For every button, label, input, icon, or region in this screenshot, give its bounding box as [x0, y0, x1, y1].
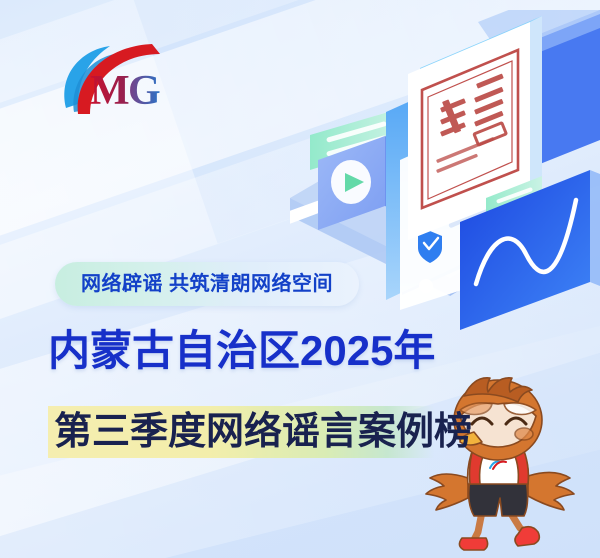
logo-letter-m: M: [90, 68, 130, 114]
mascot-shorts: [469, 480, 528, 516]
logo-letter-g: G: [128, 68, 161, 114]
mascot-shirt-logo: [488, 460, 510, 472]
mascot-wing-right: [528, 472, 574, 510]
page-title-line2-wrapper: 第三季度网络谣言案例榜: [48, 406, 478, 458]
mascot-wing-left: [426, 474, 468, 510]
slogan-pill: 网络辟谣 共筑清朗网络空间: [55, 262, 359, 306]
poster-banner: M G 网络辟谣 共筑清朗网络空间 内蒙古自治区2025年 第三季度网络谣言案例…: [0, 0, 600, 558]
page-title-line2: 第三季度网络谣言案例榜: [48, 406, 478, 458]
eagle-mascot: [404, 372, 600, 558]
slogan-text: 网络辟谣 共筑清朗网络空间: [81, 274, 333, 294]
mascot-shoe-left: [459, 538, 487, 550]
page-title-line1: 内蒙古自治区2025年: [48, 327, 435, 374]
mg-logo: M G: [48, 34, 178, 130]
